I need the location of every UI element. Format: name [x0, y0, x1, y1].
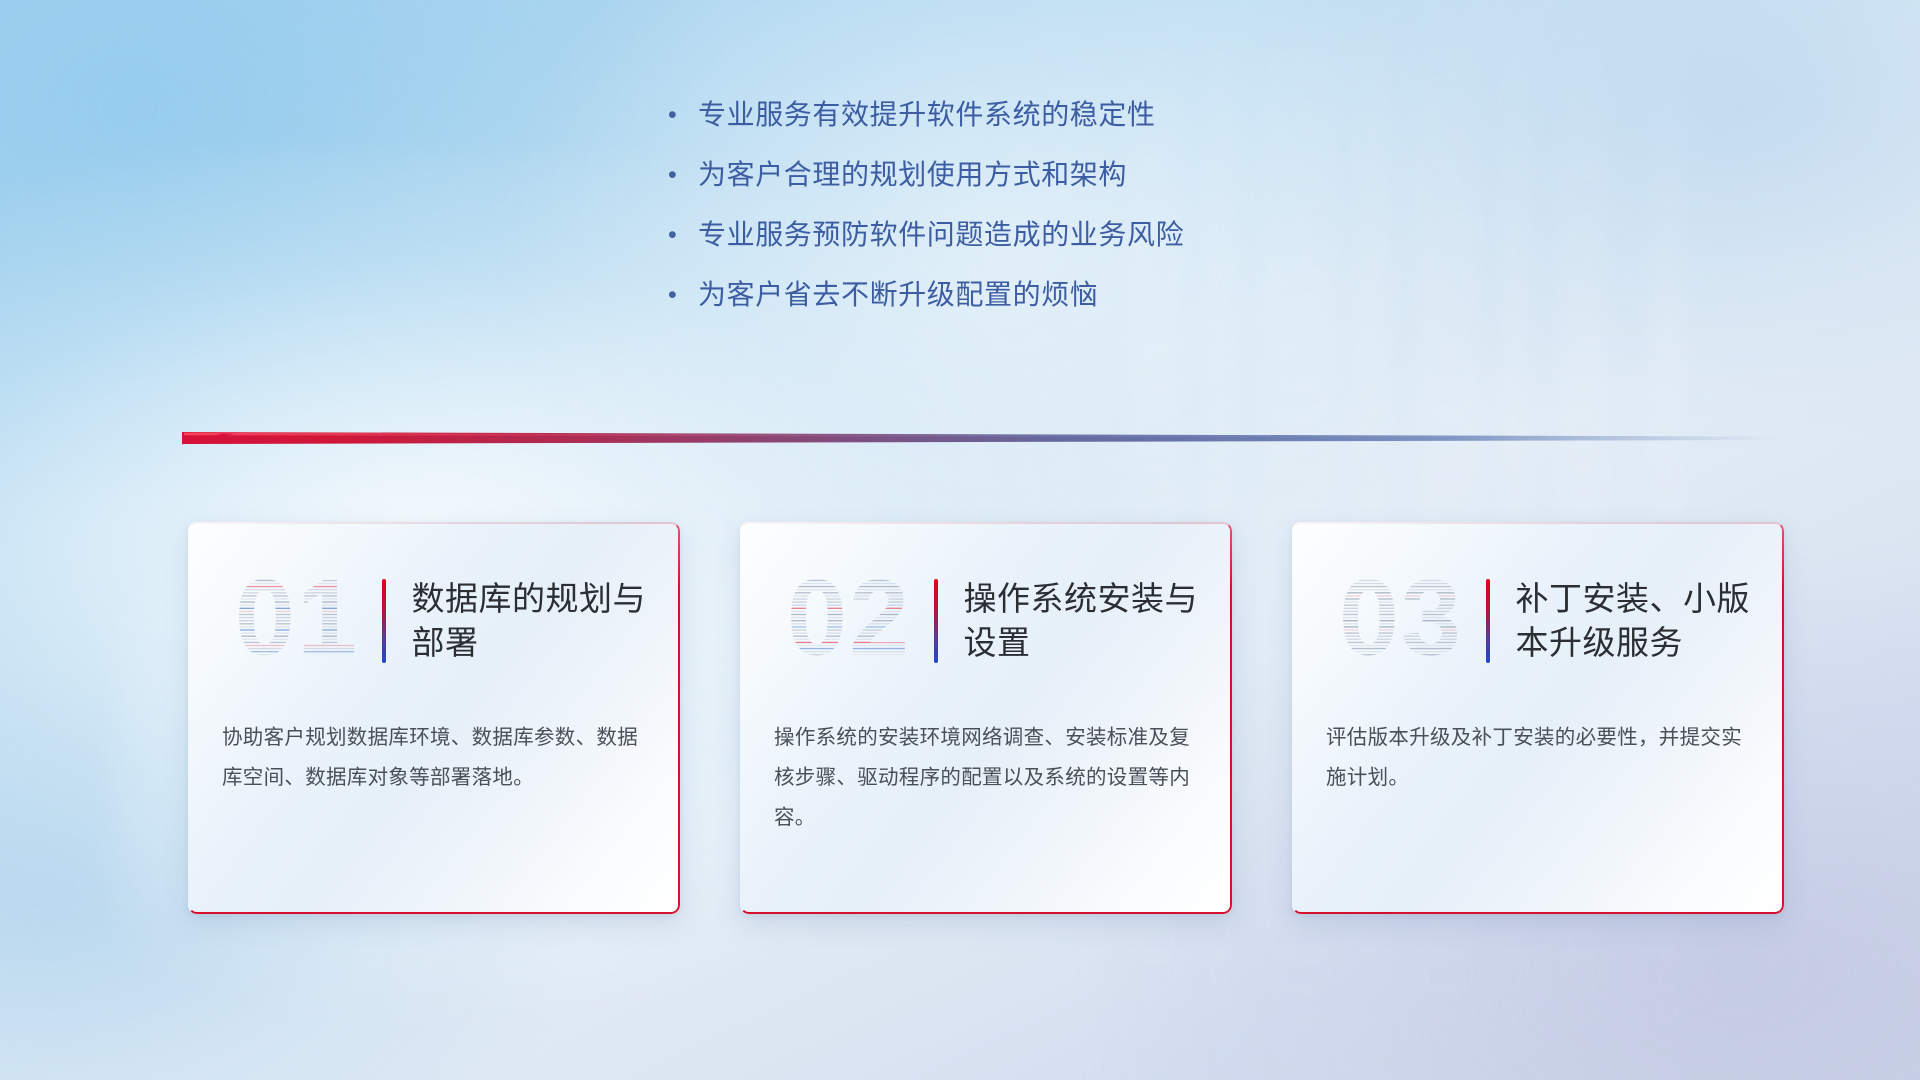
card-divider-bar: [382, 579, 386, 663]
card-description: 评估版本升级及补丁安装的必要性，并提交实施计划。: [1326, 718, 1750, 798]
bullet-label: 为客户合理的规划使用方式和架构: [698, 156, 1127, 194]
bullet-item: •专业服务预防软件问题造成的业务风险: [668, 216, 1428, 254]
card-header: 01数据库的规划与部署: [188, 556, 680, 686]
card-number: 01: [218, 565, 376, 677]
bullet-marker-icon: •: [668, 96, 698, 134]
card-number-watermark-icon: 03: [1322, 565, 1480, 677]
card-title: 补丁安装、小版本升级服务: [1516, 577, 1785, 665]
bullet-label: 专业服务有效提升软件系统的稳定性: [698, 96, 1156, 134]
bullet-label: 为客户省去不断升级配置的烦恼: [698, 276, 1098, 314]
card-header: 02操作系统安装与设置: [740, 556, 1232, 686]
card-title: 数据库的规划与部署: [412, 577, 681, 665]
card-number-watermark-icon: 02: [770, 565, 928, 677]
service-card[interactable]: 01数据库的规划与部署协助客户规划数据库环境、数据库参数、数据库空间、数据库对象…: [188, 522, 680, 914]
bullet-marker-icon: •: [668, 156, 698, 194]
bullet-marker-icon: •: [668, 276, 698, 314]
service-card[interactable]: 03补丁安装、小版本升级服务评估版本升级及补丁安装的必要性，并提交实施计划。: [1292, 522, 1784, 914]
service-card[interactable]: 02操作系统安装与设置操作系统的安装环境网络调查、安装标准及复核步骤、驱动程序的…: [740, 522, 1232, 914]
card-divider-bar: [934, 579, 938, 663]
card-description: 操作系统的安装环境网络调查、安装标准及复核步骤、驱动程序的配置以及系统的设置等内…: [774, 718, 1198, 838]
card-title: 操作系统安装与设置: [964, 577, 1233, 665]
section-divider: [182, 424, 1782, 452]
card-divider-bar: [1486, 579, 1490, 663]
card-description: 协助客户规划数据库环境、数据库参数、数据库空间、数据库对象等部署落地。: [222, 718, 646, 798]
divider-wedge-icon: [182, 424, 1782, 452]
bullet-label: 专业服务预防软件问题造成的业务风险: [698, 216, 1184, 254]
card-number-watermark-icon: 01: [218, 565, 376, 677]
bullet-item: •为客户省去不断升级配置的烦恼: [668, 276, 1428, 314]
bullet-marker-icon: •: [668, 216, 698, 254]
bullet-item: •为客户合理的规划使用方式和架构: [668, 156, 1428, 194]
bullet-item: •专业服务有效提升软件系统的稳定性: [668, 96, 1428, 134]
card-number: 03: [1322, 565, 1480, 677]
bullet-list: •专业服务有效提升软件系统的稳定性•为客户合理的规划使用方式和架构•专业服务预防…: [668, 96, 1428, 336]
card-header: 03补丁安装、小版本升级服务: [1292, 556, 1784, 686]
service-card-row: 01数据库的规划与部署协助客户规划数据库环境、数据库参数、数据库空间、数据库对象…: [188, 522, 1798, 922]
card-number: 02: [770, 565, 928, 677]
